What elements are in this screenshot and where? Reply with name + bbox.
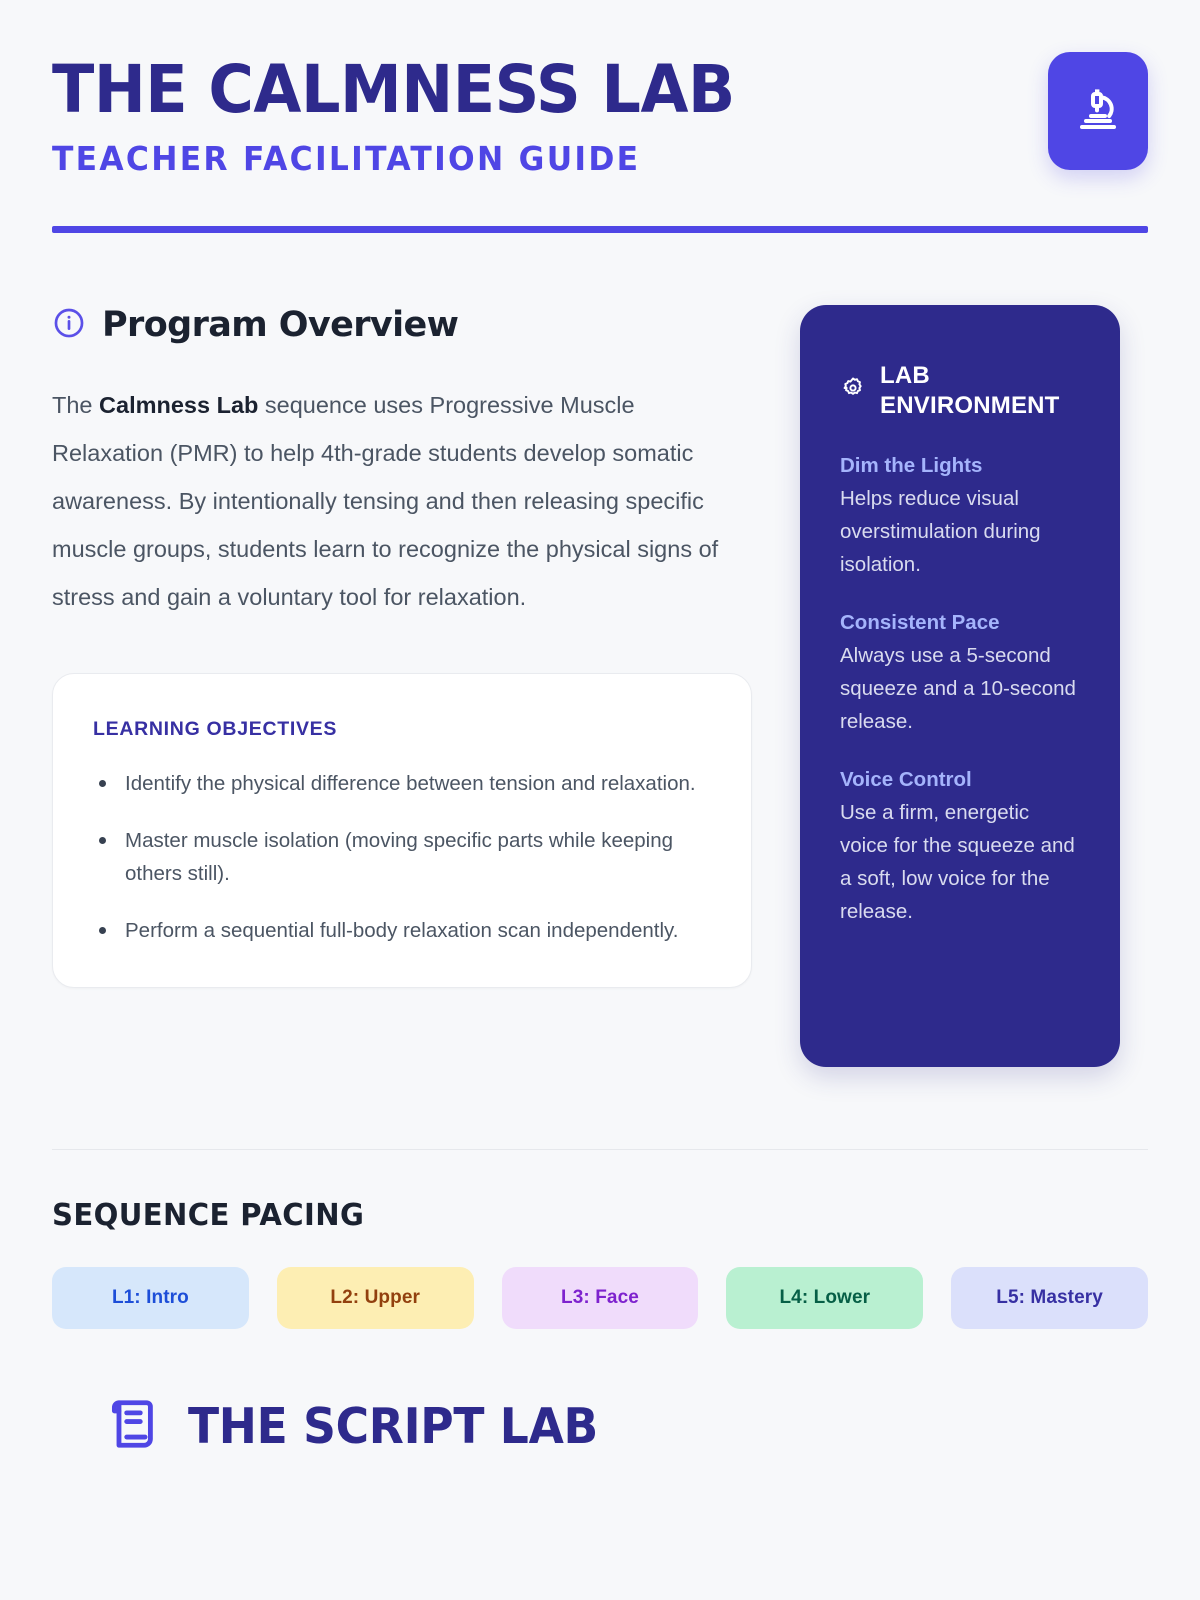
script-lab-heading: THE SCRIPT LAB (52, 1395, 1148, 1458)
overview-main-column: Program Overview The Calmness Lab sequen… (52, 305, 752, 988)
gear-icon (840, 375, 866, 406)
overview-heading-row: Program Overview (52, 305, 752, 345)
header-rule (52, 226, 1148, 233)
pacing-pill-row: L1: Intro L2: Upper L3: Face L4: Lower L… (52, 1267, 1148, 1329)
page-subtitle: TEACHER FACILITATION GUIDE (52, 139, 742, 178)
list-item: Identify the physical difference between… (93, 767, 711, 800)
lab-environment-item: Consistent Pace Always use a 5-second sq… (840, 611, 1080, 738)
pacing-section-title: SEQUENCE PACING (52, 1198, 1115, 1233)
pacing-pill-label: L5: Mastery (996, 1287, 1103, 1309)
pacing-pill-l3[interactable]: L3: Face (502, 1267, 699, 1329)
lab-title-line-2: ENVIRONMENT (880, 392, 1060, 419)
section-divider (52, 1149, 1148, 1150)
page-title: THE CALMNESS LAB (52, 56, 735, 123)
list-item: Perform a sequential full-body relaxatio… (93, 914, 711, 947)
lab-environment-item: Dim the Lights Helps reduce visual overs… (840, 454, 1080, 581)
pacing-pill-l5[interactable]: L5: Mastery (951, 1267, 1148, 1329)
learning-objectives-card: LEARNING OBJECTIVES Identify the physica… (52, 673, 752, 988)
lab-item-detail: Helps reduce visual overstimulation duri… (840, 482, 1080, 581)
lab-item-detail: Always use a 5-second squeeze and a 10-s… (840, 639, 1080, 738)
logo-badge (1048, 52, 1148, 170)
paragraph-lead: The (52, 392, 99, 418)
microscope-icon (1074, 85, 1122, 138)
pacing-pill-label: L2: Upper (330, 1287, 420, 1309)
lab-environment-card: LABENVIRONMENT Dim the Lights Helps redu… (800, 305, 1120, 1067)
pacing-pill-label: L1: Intro (112, 1287, 189, 1309)
scroll-icon (104, 1395, 162, 1458)
header-text-block: THE CALMNESS LAB TEACHER FACILITATION GU… (52, 52, 778, 178)
lab-item-detail: Use a firm, energetic voice for the sque… (840, 796, 1080, 928)
page-header: THE CALMNESS LAB TEACHER FACILITATION GU… (52, 52, 1148, 178)
learning-objectives-title: LEARNING OBJECTIVES (93, 718, 711, 741)
overview-heading-text: Program Overview (102, 305, 458, 345)
pacing-pill-label: L3: Face (561, 1287, 639, 1309)
lab-item-heading: Consistent Pace (840, 611, 1080, 635)
overview-section: Program Overview The Calmness Lab sequen… (52, 305, 1148, 1067)
overview-paragraph: The Calmness Lab sequence uses Progressi… (52, 381, 752, 621)
pacing-pill-l1[interactable]: L1: Intro (52, 1267, 249, 1329)
script-lab-title: THE SCRIPT LAB (188, 1398, 598, 1455)
paragraph-rest: sequence uses Progressive Muscle Relaxat… (52, 392, 718, 610)
lab-environment-header: LABENVIRONMENT (840, 361, 1080, 420)
lab-item-heading: Voice Control (840, 768, 1080, 792)
list-item: Master muscle isolation (moving specific… (93, 824, 711, 890)
lab-environment-title: LABENVIRONMENT (880, 361, 1060, 420)
learning-objectives-list: Identify the physical difference between… (93, 767, 711, 947)
guide-page: THE CALMNESS LAB TEACHER FACILITATION GU… (0, 0, 1200, 1600)
pacing-pill-l4[interactable]: L4: Lower (726, 1267, 923, 1329)
pacing-pill-l2[interactable]: L2: Upper (277, 1267, 474, 1329)
pacing-pill-label: L4: Lower (779, 1287, 870, 1309)
lab-item-heading: Dim the Lights (840, 454, 1080, 478)
paragraph-bold-term: Calmness Lab (99, 392, 258, 418)
lab-title-line-1: LAB (880, 362, 930, 389)
info-circle-icon (52, 306, 86, 345)
lab-environment-item: Voice Control Use a firm, energetic voic… (840, 768, 1080, 928)
